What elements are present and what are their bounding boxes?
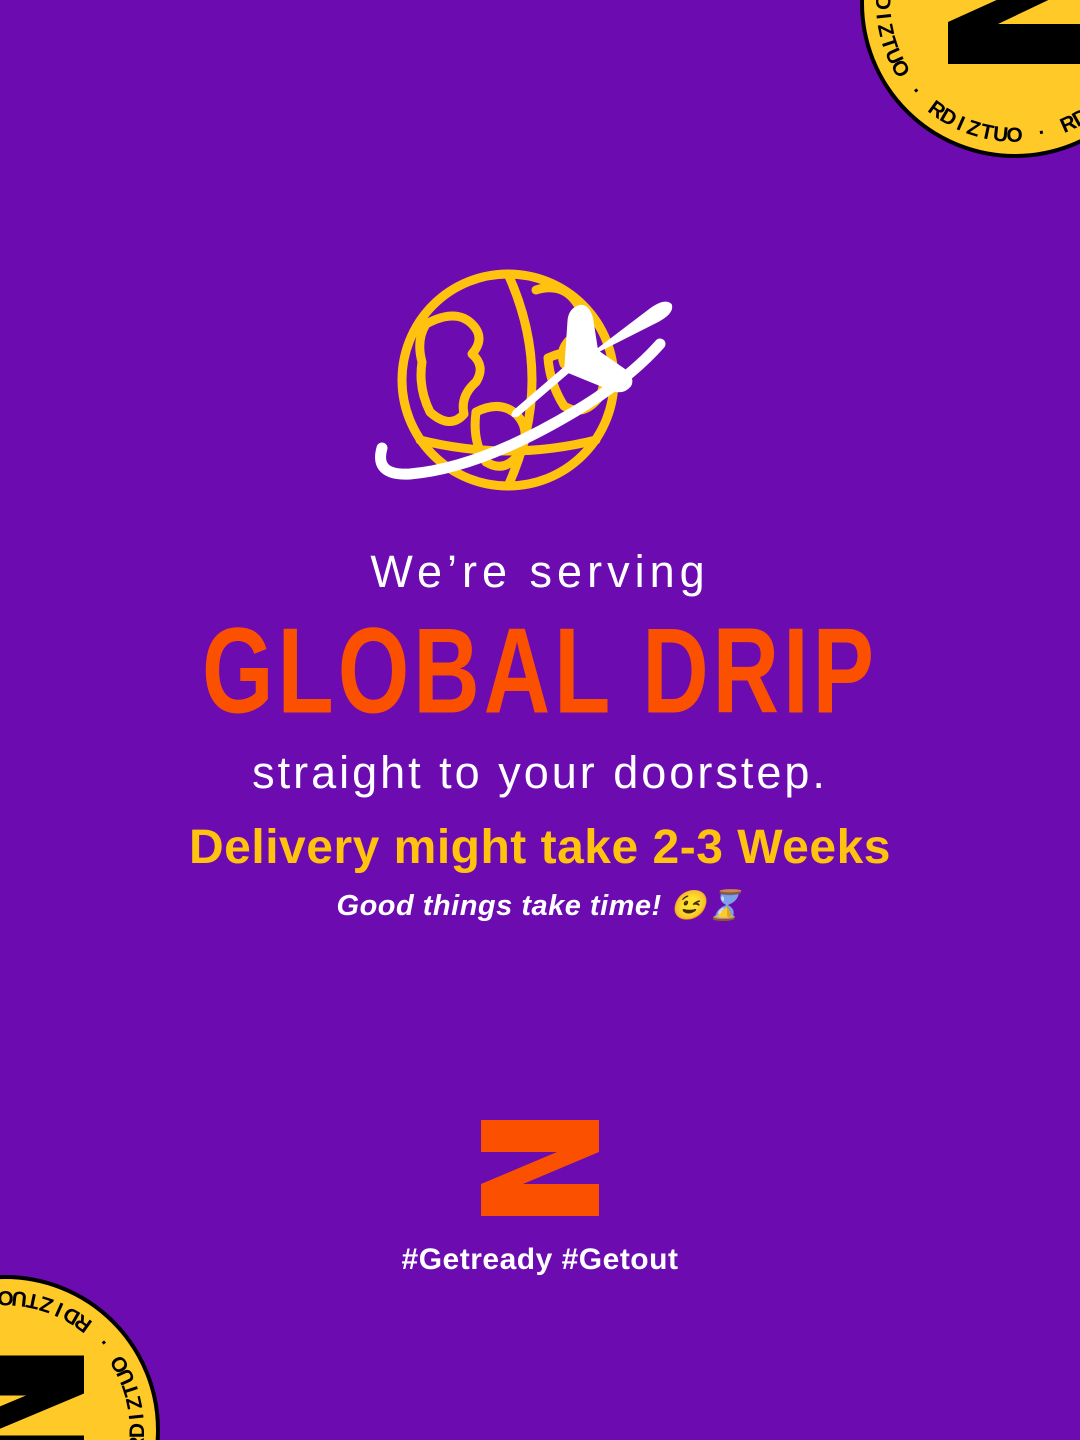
badge-ring-char: D [870, 0, 894, 11]
z-logo-icon [475, 1118, 605, 1218]
badge-ring-char: · [905, 81, 928, 103]
headline-sub: straight to your doorstep. [0, 749, 1080, 796]
badge-core-bottom-left: OUTZIDR [0, 1354, 98, 1440]
badge-ring-char: I [125, 1411, 150, 1420]
headline-eyebrow: We’re serving [0, 548, 1080, 595]
z-logo-icon [0, 1354, 90, 1440]
delivery-headline: Delivery might take 2-3 Weeks [0, 822, 1080, 875]
footer-lockup: #Getready #Getout [0, 1118, 1080, 1277]
badge-ring-char: · [1036, 121, 1049, 146]
badge-core-top-right [922, 0, 1080, 68]
delivery-notice: Delivery might take 2-3 Weeks Good thing… [0, 822, 1080, 923]
continent-west-icon [420, 316, 480, 422]
z-logo-icon [940, 0, 1080, 68]
headline-main: GLOBAL DRIP [0, 603, 1080, 743]
brand-badge-bottom-left: OUTZIDR · OUTZIDR · OUTZIDR · OUTZIDR · … [0, 1275, 160, 1440]
delivery-note: Good things take time! 😉⌛ [0, 889, 1080, 923]
footer-hashtags: #Getready #Getout [0, 1243, 1080, 1277]
poster-canvas: OUTZIDR · OUTZIDR · OUTZIDR · OUTZIDR · … [0, 0, 1080, 1440]
badge-ring-char: · [92, 1330, 115, 1352]
badge-ring-char: I [870, 12, 895, 21]
hero-illustration [0, 262, 1080, 502]
headline-block: We’re serving GLOBAL DRIP straight to yo… [0, 548, 1080, 796]
globe-airplane-graphic [360, 262, 720, 502]
brand-badge-top-right: OUTZIDR · OUTZIDR · OUTZIDR · OUTZIDR · … [860, 0, 1080, 158]
